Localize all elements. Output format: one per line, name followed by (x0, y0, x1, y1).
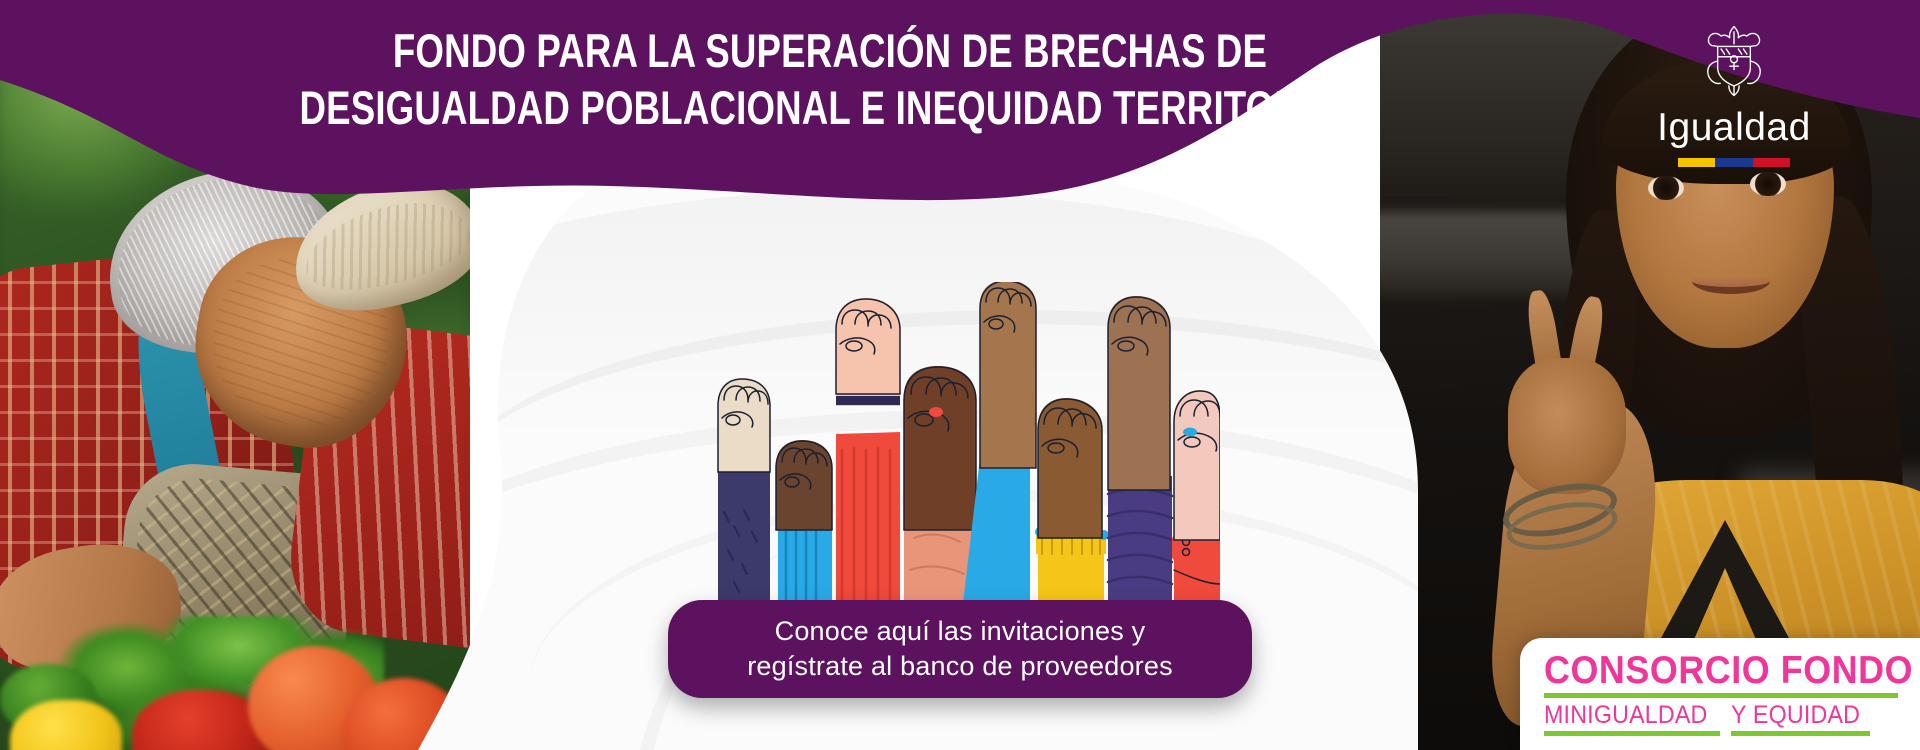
invitations-cta-button[interactable]: Conoce aquí las invitaciones y regístrat… (668, 600, 1252, 698)
girl-hand (1508, 358, 1626, 494)
cta-line-2: regístrate al banco de proveedores (747, 649, 1173, 684)
flag-yellow (1678, 158, 1715, 167)
consorcio-word-minigualdad: MINIGUALDAD (1544, 702, 1708, 728)
flag-blue (1715, 158, 1752, 167)
page-title: FONDO PARA LA SUPERACIÓN DE BRECHAS DE D… (183, 22, 1478, 137)
title-line-2: DESIGUALDAD POBLACIONAL E INEQUIDAD TERR… (183, 79, 1478, 136)
consorcio-fondo-logo: CONSORCIO FONDO MINIGUALDAD Y EQUIDAD (1520, 638, 1920, 750)
igualdad-logo: Igualdad (1634, 18, 1834, 167)
consorcio-rule-1 (1544, 693, 1898, 698)
colombia-flag-bar (1678, 158, 1790, 167)
girl-left-eye (1648, 176, 1684, 200)
consorcio-underline-1 (1544, 731, 1720, 736)
cta-label: Conoce aquí las invitaciones y regístrat… (747, 614, 1173, 683)
consorcio-word-1-group: MINIGUALDAD (1544, 702, 1720, 736)
promotional-banner: FONDO PARA LA SUPERACIÓN DE BRECHAS DE D… (0, 0, 1920, 750)
consorcio-word-2-group: Y EQUIDAD (1731, 702, 1870, 736)
colombia-coat-of-arms-icon (1691, 18, 1777, 104)
consorcio-line-2-row: MINIGUALDAD Y EQUIDAD (1544, 702, 1898, 736)
girl-smile (1692, 268, 1770, 294)
raised-fists-illustration (700, 282, 1220, 612)
flag-red (1753, 158, 1790, 167)
cta-line-1: Conoce aquí las invitaciones y (775, 616, 1146, 646)
title-line-1: FONDO PARA LA SUPERACIÓN DE BRECHAS DE (183, 22, 1478, 79)
girl-right-eye (1750, 172, 1786, 196)
consorcio-word-y-equidad: Y EQUIDAD (1731, 702, 1860, 728)
igualdad-wordmark: Igualdad (1634, 108, 1834, 147)
consorcio-underline-2 (1731, 731, 1870, 736)
consorcio-line-1: CONSORCIO FONDO (1544, 651, 1870, 690)
